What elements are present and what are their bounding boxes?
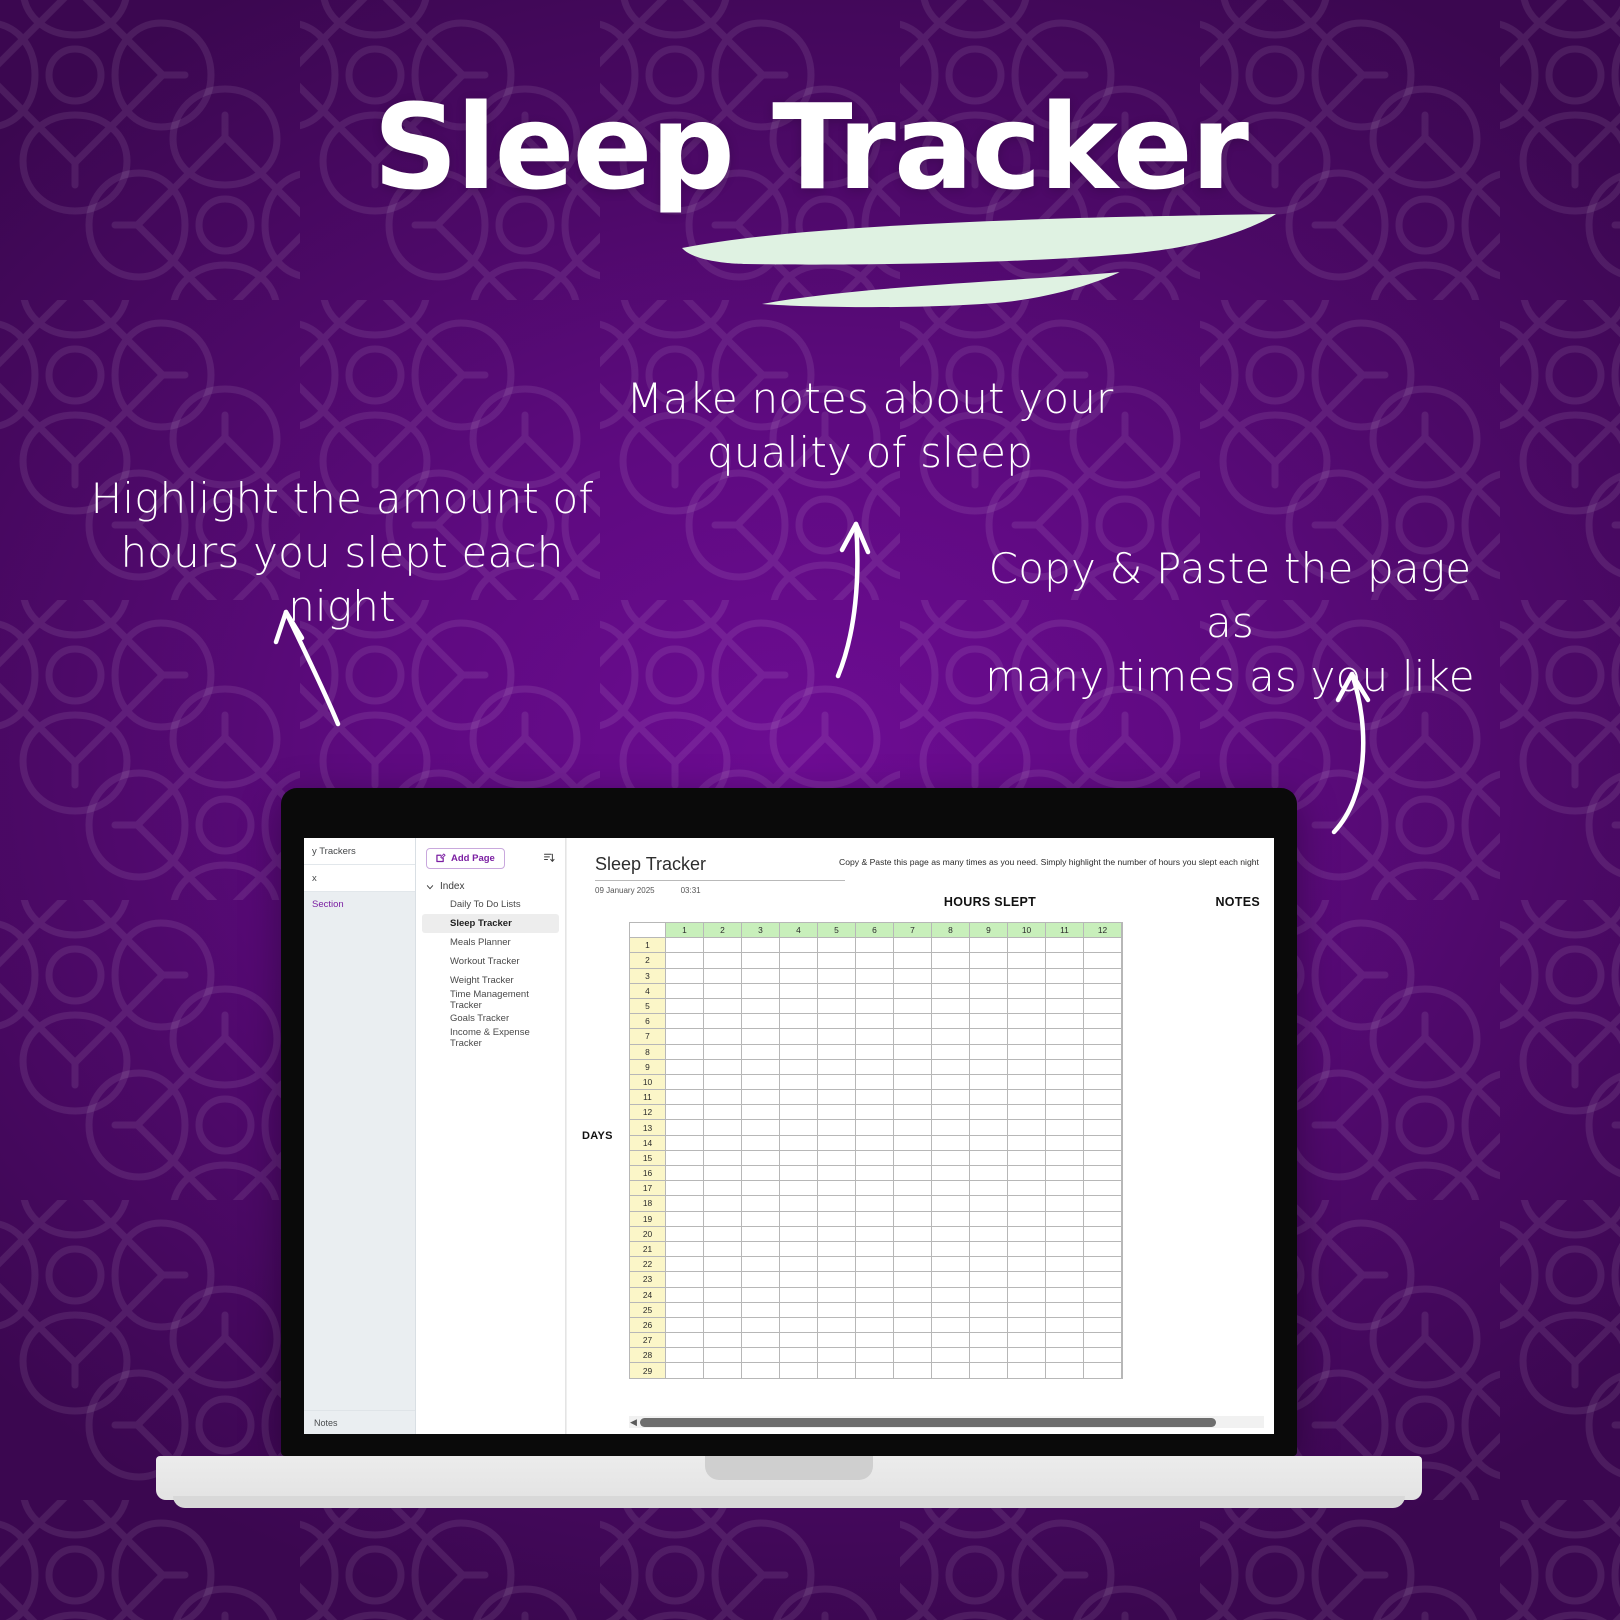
hour-cell[interactable] [780, 1272, 818, 1287]
horizontal-scrollbar[interactable]: ◀ [629, 1416, 1264, 1428]
hour-cell[interactable] [1084, 1272, 1122, 1287]
note-cell[interactable] [1122, 1090, 1123, 1105]
hour-cell[interactable] [818, 1333, 856, 1348]
day-number-cell[interactable]: 6 [630, 1014, 666, 1029]
hour-cell[interactable] [1046, 968, 1084, 983]
hour-cell[interactable] [1084, 1135, 1122, 1150]
day-number-cell[interactable]: 7 [630, 1029, 666, 1044]
hour-cell[interactable] [704, 1074, 742, 1089]
table-row[interactable]: 22 [630, 1257, 1123, 1272]
sort-descending-icon[interactable] [543, 852, 555, 864]
hour-cell[interactable] [780, 1226, 818, 1241]
hour-header-cell[interactable]: 2 [704, 923, 742, 938]
hour-header-cell[interactable]: 8 [932, 923, 970, 938]
hour-cell[interactable] [742, 1226, 780, 1241]
table-row[interactable]: 2 [630, 953, 1123, 968]
hour-cell[interactable] [666, 953, 704, 968]
hour-cell[interactable] [1084, 1363, 1122, 1378]
hour-cell[interactable] [1046, 1287, 1084, 1302]
day-number-cell[interactable]: 18 [630, 1196, 666, 1211]
hour-cell[interactable] [932, 1090, 970, 1105]
hour-cell[interactable] [894, 1014, 932, 1029]
hour-cell[interactable] [704, 1226, 742, 1241]
day-number-cell[interactable]: 23 [630, 1272, 666, 1287]
hour-cell[interactable] [932, 1074, 970, 1089]
hour-cell[interactable] [704, 1090, 742, 1105]
hour-cell[interactable] [1008, 983, 1046, 998]
hour-cell[interactable] [970, 1074, 1008, 1089]
hour-cell[interactable] [856, 1196, 894, 1211]
scrollbar-thumb[interactable] [640, 1418, 1216, 1427]
page-item-time-management-tracker[interactable]: Time Management Tracker [422, 990, 559, 1009]
hour-cell[interactable] [970, 1257, 1008, 1272]
hour-cell[interactable] [1008, 1044, 1046, 1059]
table-row[interactable]: 29 [630, 1363, 1123, 1378]
day-number-cell[interactable]: 26 [630, 1317, 666, 1332]
hour-cell[interactable] [1008, 968, 1046, 983]
hour-cell[interactable] [1008, 1196, 1046, 1211]
hour-cell[interactable] [1084, 1317, 1122, 1332]
hour-cell[interactable] [894, 1196, 932, 1211]
hour-cell[interactable] [894, 1029, 932, 1044]
hour-cell[interactable] [1084, 1059, 1122, 1074]
hour-cell[interactable] [1008, 1166, 1046, 1181]
hour-cell[interactable] [1084, 998, 1122, 1013]
hour-cell[interactable] [1084, 1241, 1122, 1256]
hour-cell[interactable] [818, 1287, 856, 1302]
hour-header-cell[interactable]: 9 [970, 923, 1008, 938]
note-cell[interactable] [1122, 1333, 1123, 1348]
hour-cell[interactable] [818, 1166, 856, 1181]
day-number-cell[interactable]: 10 [630, 1074, 666, 1089]
hour-cell[interactable] [818, 983, 856, 998]
add-page-button[interactable]: Add Page [426, 848, 505, 869]
hour-cell[interactable] [780, 1317, 818, 1332]
hour-cell[interactable] [704, 1317, 742, 1332]
hour-cell[interactable] [894, 1257, 932, 1272]
day-number-cell[interactable]: 1 [630, 938, 666, 953]
table-row[interactable]: 12 [630, 1105, 1123, 1120]
note-cell[interactable] [1122, 1120, 1123, 1135]
hour-cell[interactable] [818, 1211, 856, 1226]
hour-cell[interactable] [1008, 1226, 1046, 1241]
hour-cell[interactable] [818, 1090, 856, 1105]
hour-cell[interactable] [780, 1363, 818, 1378]
hour-cell[interactable] [742, 1120, 780, 1135]
hour-cell[interactable] [780, 1014, 818, 1029]
hour-cell[interactable] [1046, 953, 1084, 968]
hour-cell[interactable] [894, 1348, 932, 1363]
hour-cell[interactable] [1046, 1211, 1084, 1226]
hour-cell[interactable] [818, 1044, 856, 1059]
hour-cell[interactable] [666, 1090, 704, 1105]
hour-cell[interactable] [780, 1181, 818, 1196]
hour-cell[interactable] [856, 1348, 894, 1363]
hour-cell[interactable] [780, 1029, 818, 1044]
hour-cell[interactable] [932, 1257, 970, 1272]
hour-cell[interactable] [1046, 1105, 1084, 1120]
hour-cell[interactable] [1008, 1181, 1046, 1196]
hour-header-cell[interactable]: 6 [856, 923, 894, 938]
hour-cell[interactable] [704, 953, 742, 968]
hour-cell[interactable] [742, 1196, 780, 1211]
hour-header-cell[interactable]: 5 [818, 923, 856, 938]
hour-cell[interactable] [818, 998, 856, 1013]
hour-cell[interactable] [780, 1241, 818, 1256]
note-cell[interactable] [1122, 1257, 1123, 1272]
hour-cell[interactable] [932, 1196, 970, 1211]
day-number-cell[interactable]: 8 [630, 1044, 666, 1059]
hour-cell[interactable] [704, 1181, 742, 1196]
hour-cell[interactable] [856, 983, 894, 998]
hour-cell[interactable] [704, 983, 742, 998]
hour-cell[interactable] [1046, 1166, 1084, 1181]
hour-cell[interactable] [970, 1029, 1008, 1044]
note-cell[interactable] [1122, 1302, 1123, 1317]
left-nav-section-link[interactable]: Section [304, 892, 415, 916]
hour-cell[interactable] [970, 1181, 1008, 1196]
day-number-cell[interactable]: 16 [630, 1166, 666, 1181]
hour-cell[interactable] [856, 938, 894, 953]
hour-cell[interactable] [780, 1348, 818, 1363]
hour-cell[interactable] [1084, 1226, 1122, 1241]
left-nav-notes-label[interactable]: Notes [304, 1410, 415, 1434]
table-row[interactable]: 6 [630, 1014, 1123, 1029]
hour-cell[interactable] [894, 998, 932, 1013]
table-row[interactable]: 14 [630, 1135, 1123, 1150]
hour-cell[interactable] [932, 1241, 970, 1256]
hour-cell[interactable] [932, 1059, 970, 1074]
hour-cell[interactable] [704, 1150, 742, 1165]
hour-cell[interactable] [1008, 1135, 1046, 1150]
note-cell[interactable] [1122, 1074, 1123, 1089]
hour-cell[interactable] [742, 1181, 780, 1196]
hour-cell[interactable] [932, 1363, 970, 1378]
hour-cell[interactable] [818, 1272, 856, 1287]
day-number-cell[interactable]: 27 [630, 1333, 666, 1348]
hour-cell[interactable] [818, 1257, 856, 1272]
hour-cell[interactable] [1084, 1029, 1122, 1044]
hour-cell[interactable] [856, 1333, 894, 1348]
hour-cell[interactable] [932, 938, 970, 953]
hour-cell[interactable] [704, 1302, 742, 1317]
hour-cell[interactable] [704, 1272, 742, 1287]
hour-cell[interactable] [818, 1135, 856, 1150]
hour-cell[interactable] [1046, 938, 1084, 953]
hour-cell[interactable] [742, 1059, 780, 1074]
table-row[interactable]: 9 [630, 1059, 1123, 1074]
hour-cell[interactable] [932, 1014, 970, 1029]
table-row[interactable]: 18 [630, 1196, 1123, 1211]
hour-cell[interactable] [856, 1272, 894, 1287]
hour-cell[interactable] [1046, 1333, 1084, 1348]
hour-header-cell[interactable]: 7 [894, 923, 932, 938]
note-cell[interactable] [1122, 998, 1123, 1013]
table-row[interactable]: 8 [630, 1044, 1123, 1059]
hour-cell[interactable] [932, 1166, 970, 1181]
hour-cell[interactable] [666, 1196, 704, 1211]
hour-cell[interactable] [894, 1241, 932, 1256]
hour-header-cell[interactable]: 4 [780, 923, 818, 938]
hour-cell[interactable] [970, 1317, 1008, 1332]
hour-cell[interactable] [1046, 1257, 1084, 1272]
table-row[interactable]: 3 [630, 968, 1123, 983]
hour-cell[interactable] [1008, 998, 1046, 1013]
hour-cell[interactable] [856, 1181, 894, 1196]
hour-cell[interactable] [704, 1363, 742, 1378]
hour-cell[interactable] [856, 1014, 894, 1029]
hour-cell[interactable] [894, 1150, 932, 1165]
hour-cell[interactable] [742, 998, 780, 1013]
hour-cell[interactable] [704, 1105, 742, 1120]
hour-cell[interactable] [1084, 1257, 1122, 1272]
hour-cell[interactable] [818, 1302, 856, 1317]
hour-cell[interactable] [970, 1135, 1008, 1150]
hour-cell[interactable] [666, 998, 704, 1013]
hour-cell[interactable] [780, 1196, 818, 1211]
hour-cell[interactable] [894, 1166, 932, 1181]
hour-cell[interactable] [1008, 1257, 1046, 1272]
hour-cell[interactable] [780, 1257, 818, 1272]
hour-cell[interactable] [742, 1029, 780, 1044]
hour-cell[interactable] [704, 1241, 742, 1256]
day-number-cell[interactable]: 5 [630, 998, 666, 1013]
hour-cell[interactable] [1008, 1105, 1046, 1120]
hour-cell[interactable] [1008, 938, 1046, 953]
hour-cell[interactable] [1046, 1029, 1084, 1044]
hour-cell[interactable] [780, 1135, 818, 1150]
hour-cell[interactable] [704, 938, 742, 953]
hour-cell[interactable] [1046, 1302, 1084, 1317]
note-cell[interactable] [1122, 1226, 1123, 1241]
hour-cell[interactable] [704, 1120, 742, 1135]
hour-cell[interactable] [970, 983, 1008, 998]
hour-cell[interactable] [704, 1029, 742, 1044]
hour-cell[interactable] [1084, 1348, 1122, 1363]
hour-cell[interactable] [970, 1348, 1008, 1363]
day-number-cell[interactable]: 24 [630, 1287, 666, 1302]
hour-cell[interactable] [780, 1044, 818, 1059]
hour-cell[interactable] [970, 953, 1008, 968]
hour-cell[interactable] [932, 1226, 970, 1241]
hour-cell[interactable] [894, 938, 932, 953]
table-row[interactable]: 11 [630, 1090, 1123, 1105]
hour-cell[interactable] [742, 1272, 780, 1287]
hour-cell[interactable] [1008, 1317, 1046, 1332]
hour-cell[interactable] [666, 1241, 704, 1256]
hour-cell[interactable] [1046, 1348, 1084, 1363]
hour-cell[interactable] [666, 968, 704, 983]
hour-cell[interactable] [970, 1211, 1008, 1226]
hour-cell[interactable] [894, 1044, 932, 1059]
hour-cell[interactable] [970, 1150, 1008, 1165]
hour-cell[interactable] [780, 1333, 818, 1348]
note-cell[interactable] [1122, 1135, 1123, 1150]
page-item-daily-to-do-lists[interactable]: Daily To Do Lists [422, 895, 559, 914]
hour-cell[interactable] [704, 1287, 742, 1302]
hour-cell[interactable] [818, 1120, 856, 1135]
hour-cell[interactable] [742, 938, 780, 953]
hour-cell[interactable] [1084, 983, 1122, 998]
hour-cell[interactable] [1046, 1317, 1084, 1332]
hour-cell[interactable] [666, 1014, 704, 1029]
hour-cell[interactable] [666, 1272, 704, 1287]
hour-cell[interactable] [1008, 1029, 1046, 1044]
hour-cell[interactable] [742, 1150, 780, 1165]
hour-cell[interactable] [856, 1029, 894, 1044]
table-row[interactable]: 23 [630, 1272, 1123, 1287]
hour-cell[interactable] [1084, 968, 1122, 983]
hour-cell[interactable] [1046, 1363, 1084, 1378]
hour-cell[interactable] [1046, 1120, 1084, 1135]
hour-cell[interactable] [1084, 1150, 1122, 1165]
left-nav-row-index[interactable]: x [304, 865, 415, 892]
note-cell[interactable] [1122, 1029, 1123, 1044]
hour-cell[interactable] [932, 968, 970, 983]
hour-cell[interactable] [666, 1257, 704, 1272]
day-number-cell[interactable]: 11 [630, 1090, 666, 1105]
table-row[interactable]: 28 [630, 1348, 1123, 1363]
hour-cell[interactable] [742, 983, 780, 998]
hour-cell[interactable] [970, 1166, 1008, 1181]
hour-cell[interactable] [818, 1317, 856, 1332]
table-row[interactable]: 13 [630, 1120, 1123, 1135]
hour-cell[interactable] [666, 938, 704, 953]
hour-cell[interactable] [894, 1135, 932, 1150]
sleep-grid-table[interactable]: 1234567891011121234567891011121314151617… [629, 922, 1123, 1379]
hour-cell[interactable] [856, 968, 894, 983]
hour-cell[interactable] [666, 1105, 704, 1120]
hour-cell[interactable] [666, 1166, 704, 1181]
sleep-grid[interactable]: 1234567891011121234567891011121314151617… [629, 922, 1274, 1408]
table-row[interactable]: 10 [630, 1074, 1123, 1089]
hour-cell[interactable] [780, 1166, 818, 1181]
page-item-goals-tracker[interactable]: Goals Tracker [422, 1009, 559, 1028]
note-cell[interactable] [1122, 1181, 1123, 1196]
note-cell[interactable] [1122, 1363, 1123, 1378]
table-row[interactable]: 7 [630, 1029, 1123, 1044]
hour-cell[interactable] [894, 1302, 932, 1317]
hour-cell[interactable] [970, 1014, 1008, 1029]
hour-cell[interactable] [742, 1090, 780, 1105]
day-number-cell[interactable]: 13 [630, 1120, 666, 1135]
hour-cell[interactable] [1084, 1333, 1122, 1348]
hour-cell[interactable] [818, 938, 856, 953]
hour-cell[interactable] [894, 1333, 932, 1348]
hour-cell[interactable] [666, 1333, 704, 1348]
hour-cell[interactable] [742, 1105, 780, 1120]
note-cell[interactable] [1122, 938, 1123, 953]
hour-cell[interactable] [932, 953, 970, 968]
hour-cell[interactable] [856, 1211, 894, 1226]
hour-cell[interactable] [818, 1059, 856, 1074]
hour-cell[interactable] [856, 1257, 894, 1272]
hour-cell[interactable] [780, 968, 818, 983]
hour-cell[interactable] [932, 1211, 970, 1226]
hour-cell[interactable] [894, 1181, 932, 1196]
hour-cell[interactable] [856, 1120, 894, 1135]
hour-cell[interactable] [666, 1150, 704, 1165]
hour-cell[interactable] [666, 1302, 704, 1317]
hour-cell[interactable] [666, 1120, 704, 1135]
hour-cell[interactable] [780, 1120, 818, 1135]
hour-cell[interactable] [742, 1074, 780, 1089]
hour-cell[interactable] [704, 1257, 742, 1272]
hour-cell[interactable] [856, 1241, 894, 1256]
hour-cell[interactable] [666, 1363, 704, 1378]
hour-cell[interactable] [894, 1211, 932, 1226]
hour-cell[interactable] [818, 968, 856, 983]
hour-cell[interactable] [780, 1074, 818, 1089]
hour-cell[interactable] [1008, 1090, 1046, 1105]
hour-cell[interactable] [818, 1074, 856, 1089]
hour-cell[interactable] [1046, 1090, 1084, 1105]
hour-cell[interactable] [1008, 1363, 1046, 1378]
hour-cell[interactable] [1084, 953, 1122, 968]
hour-cell[interactable] [704, 1014, 742, 1029]
hour-cell[interactable] [1046, 1014, 1084, 1029]
hour-cell[interactable] [742, 1363, 780, 1378]
table-row[interactable]: 27 [630, 1333, 1123, 1348]
chevron-down-icon[interactable] [426, 883, 434, 891]
hour-cell[interactable] [1008, 953, 1046, 968]
hour-cell[interactable] [666, 1059, 704, 1074]
table-row[interactable]: 16 [630, 1166, 1123, 1181]
pages-index-group[interactable]: Index [416, 878, 565, 895]
hour-cell[interactable] [932, 1029, 970, 1044]
hour-cell[interactable] [932, 1044, 970, 1059]
hour-cell[interactable] [856, 1105, 894, 1120]
hour-cell[interactable] [704, 1348, 742, 1363]
day-number-cell[interactable]: 19 [630, 1211, 666, 1226]
hour-cell[interactable] [894, 1287, 932, 1302]
hour-cell[interactable] [1046, 1196, 1084, 1211]
table-row[interactable]: 24 [630, 1287, 1123, 1302]
hour-cell[interactable] [1008, 1014, 1046, 1029]
hour-cell[interactable] [970, 1226, 1008, 1241]
hour-cell[interactable] [970, 1241, 1008, 1256]
hour-cell[interactable] [818, 953, 856, 968]
hour-cell[interactable] [666, 1287, 704, 1302]
note-cell[interactable] [1122, 1059, 1123, 1074]
table-row[interactable]: 5 [630, 998, 1123, 1013]
hour-cell[interactable] [780, 1211, 818, 1226]
day-number-cell[interactable]: 3 [630, 968, 666, 983]
hour-cell[interactable] [780, 1302, 818, 1317]
hour-cell[interactable] [894, 1090, 932, 1105]
hour-cell[interactable] [666, 1181, 704, 1196]
hour-cell[interactable] [742, 1211, 780, 1226]
hour-cell[interactable] [818, 1363, 856, 1378]
hour-cell[interactable] [818, 1181, 856, 1196]
hour-cell[interactable] [932, 998, 970, 1013]
page-item-weight-tracker[interactable]: Weight Tracker [422, 971, 559, 990]
hour-cell[interactable] [856, 1287, 894, 1302]
day-number-cell[interactable]: 4 [630, 983, 666, 998]
hour-cell[interactable] [1008, 1241, 1046, 1256]
hour-cell[interactable] [666, 983, 704, 998]
note-cell[interactable] [1122, 968, 1123, 983]
hour-cell[interactable] [1084, 1074, 1122, 1089]
hour-cell[interactable] [1084, 1044, 1122, 1059]
hour-cell[interactable] [932, 1317, 970, 1332]
hour-cell[interactable] [932, 1333, 970, 1348]
hour-cell[interactable] [742, 1302, 780, 1317]
hour-cell[interactable] [1046, 1074, 1084, 1089]
hour-cell[interactable] [1008, 1348, 1046, 1363]
hour-cell[interactable] [970, 1044, 1008, 1059]
hour-cell[interactable] [742, 1044, 780, 1059]
